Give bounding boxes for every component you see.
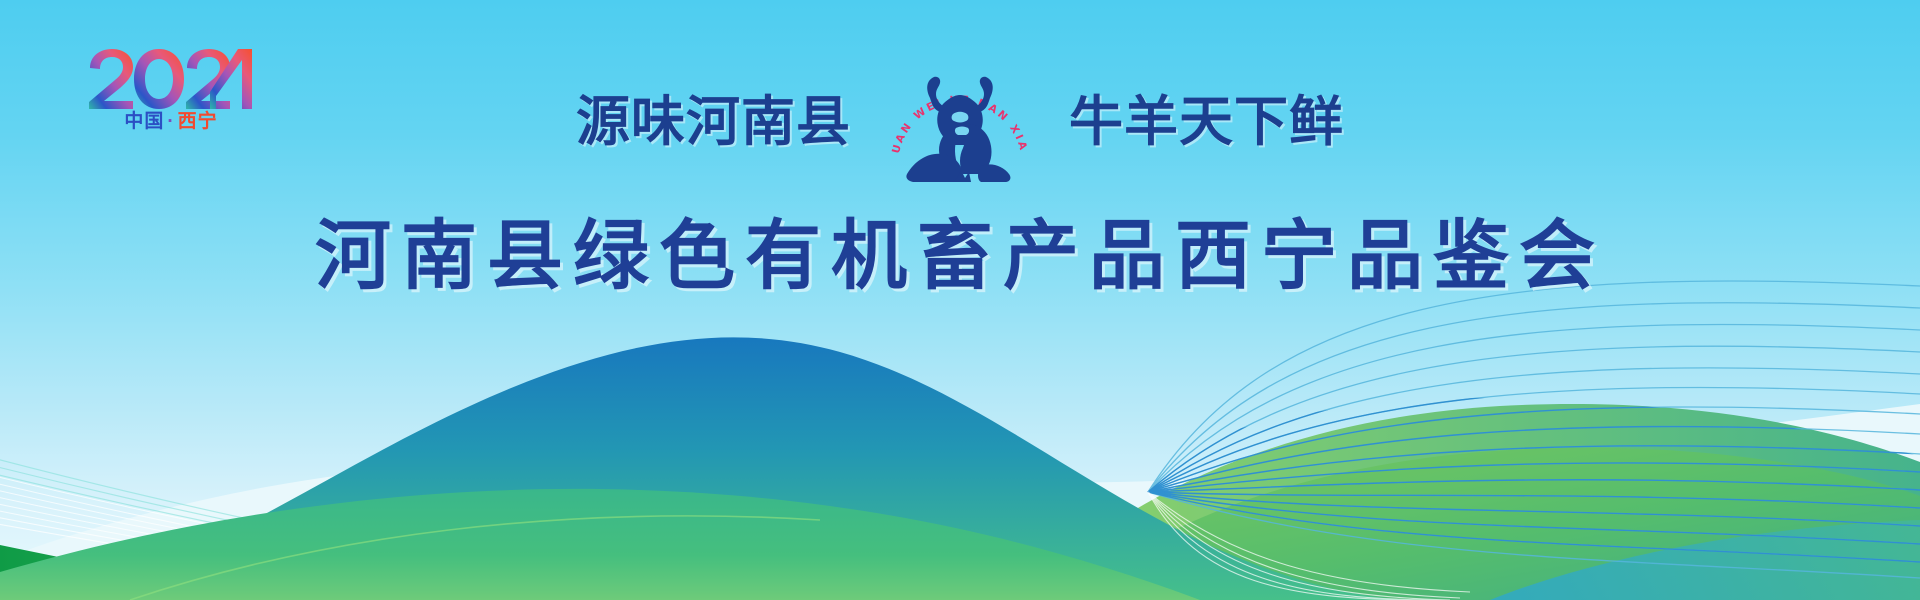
yak-bull-mark: YUAN WEI HE NAN XIAN bbox=[885, 62, 1035, 182]
page-title: 河南县绿色有机畜产品西宁品鉴会 bbox=[0, 214, 1920, 298]
brand-lockup: 源味河南县 YUAN WEI HE NAN XIAN bbox=[0, 62, 1920, 182]
brand-right-text: 牛羊天下鲜 bbox=[1069, 95, 1344, 149]
brand-left-text: 源味河南县 bbox=[576, 95, 851, 149]
event-banner: 中国·西宁 源味河南县 YUAN WEI HE NAN XIAN bbox=[0, 0, 1920, 600]
